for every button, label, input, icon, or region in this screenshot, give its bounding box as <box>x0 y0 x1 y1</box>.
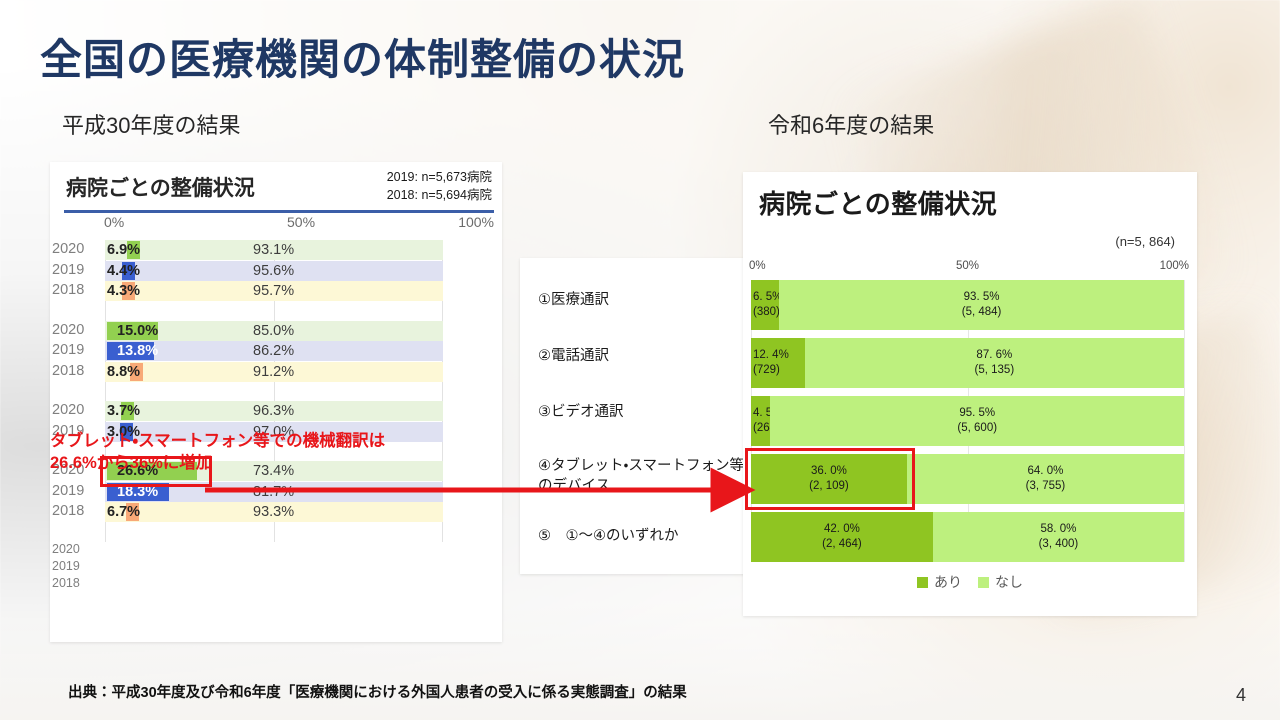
bar-row: 12. 4%(729)87. 6%(5, 135) <box>751 338 1185 388</box>
bar-segment-nashi: 87. 6%(5, 135) <box>805 338 1184 388</box>
left-axis-tick-100: 100% <box>458 214 494 230</box>
row-value-yes: 6.9% <box>107 241 140 259</box>
row-value-no: 93.1% <box>253 241 294 259</box>
row-value-no: 85.0% <box>253 322 294 340</box>
bar-segment-ari: 36. 0%(2, 109) <box>751 454 907 504</box>
bar-count-nashi: (5, 484) <box>779 305 1184 320</box>
bar-row: 6. 5%(380)93. 5%(5, 484) <box>751 280 1185 330</box>
legend-swatch-icon <box>917 577 928 588</box>
subtitle-left: 平成30年度の結果 <box>62 108 240 140</box>
bar-segment-nashi: 95. 5%(5, 600) <box>770 396 1184 446</box>
bar-segment-nashi: 58. 0%(3, 400) <box>933 512 1184 562</box>
bar-row: 36. 0%(2, 109)64. 0%(3, 755) <box>751 454 1185 504</box>
row-value-no: 91.2% <box>253 363 294 381</box>
legend-label: なし <box>995 572 1023 592</box>
bar-segment-ari: 4. 5%(264) <box>751 396 770 446</box>
row-value-no: 95.7% <box>253 282 294 300</box>
subtitle-right: 令和6年度の結果 <box>768 108 934 140</box>
bar-pct-ari: 36. 0% <box>751 464 907 479</box>
slide-root: 全国の医療機関の体制整備の状況 平成30年度の結果 令和6年度の結果 病院ごとの… <box>0 0 1280 720</box>
row-value-yes: 3.7% <box>107 402 140 420</box>
bar-count-nashi: (3, 755) <box>907 479 1184 494</box>
category-label-3: ③ビデオ通訳 <box>538 402 744 422</box>
row-value-yes: 4.4% <box>107 262 140 280</box>
left-chart-card: 病院ごとの整備状況 2019: n=5,673病院 2018: n=5,694病… <box>50 162 502 642</box>
row-value-no: 93.3% <box>253 503 294 521</box>
left-chart-axis: 0% 50% 100% <box>50 214 502 238</box>
row-value-yes: 13.8% <box>117 342 158 360</box>
table-row: 20184.3%95.7% <box>105 281 443 301</box>
left-chart-title: 病院ごとの整備状況 <box>66 172 255 202</box>
category-label-1: ①医療通訳 <box>538 290 744 310</box>
row-value-yes: 15.0% <box>117 322 158 340</box>
right-chart-card: 病院ごとの整備状況 (n=5, 864) 0% 50% 100% 6. 5%(3… <box>743 172 1197 616</box>
category-label-4: ④タブレット・スマートフォン等のデバイス <box>538 456 744 496</box>
bar-pct-nashi: 87. 6% <box>805 348 1184 363</box>
row-year-label: 2019 <box>52 262 98 278</box>
bar-count-nashi: (3, 400) <box>933 537 1184 552</box>
row-value-yes: 6.7% <box>107 503 140 521</box>
table-row: 20186.7%93.3% <box>105 502 443 522</box>
left-chart-n-2019: 2019: n=5,673病院 <box>387 168 492 186</box>
table-row: 201913.8%86.2% <box>105 341 443 361</box>
legend-swatch-icon <box>978 577 989 588</box>
row-value-yes: 4.3% <box>107 282 140 300</box>
legend-item-nashi: なし <box>978 572 1023 592</box>
bar-count-ari: (2, 109) <box>751 479 907 494</box>
bar-count-nashi: (5, 135) <box>805 363 1184 378</box>
row-year-label: 2020 <box>52 322 98 338</box>
right-axis-tick-0: 0% <box>749 260 766 272</box>
bar-pct-nashi: 58. 0% <box>933 522 1184 537</box>
left-chart-callout: タブレット・スマートフォン等での機械翻訳は26.6%から36%に増加 <box>50 430 390 475</box>
bar-segment-ari: 12. 4%(729) <box>751 338 805 388</box>
table-row: 20188.8%91.2% <box>105 362 443 382</box>
left-axis-tick-0: 0% <box>104 214 124 230</box>
row-value-yes: 8.8% <box>107 363 140 381</box>
left-chart-n-2018: 2018: n=5,694病院 <box>387 186 492 204</box>
bar-count-nashi: (5, 600) <box>770 421 1184 436</box>
right-chart-title: 病院ごとの整備状況 <box>759 184 997 221</box>
row-year-label: 2018 <box>52 576 98 590</box>
row-value-no: 95.6% <box>253 262 294 280</box>
row-year-label: 2020 <box>52 241 98 257</box>
right-axis-tick-100: 100% <box>1160 260 1189 272</box>
right-axis-tick-50: 50% <box>956 260 979 272</box>
bar-segment-ari: 6. 5%(380) <box>751 280 779 330</box>
right-chart-legend: ありなし <box>743 572 1197 592</box>
row-value-no: 96.3% <box>253 402 294 420</box>
bar-segment-nashi: 93. 5%(5, 484) <box>779 280 1184 330</box>
left-chart-n-note: 2019: n=5,673病院 2018: n=5,694病院 <box>387 168 492 204</box>
bar-row: 42. 0%(2, 464)58. 0%(3, 400) <box>751 512 1185 562</box>
left-chart-rule <box>64 210 494 213</box>
right-chart-axis: 0% 50% 100% <box>743 260 1197 278</box>
category-label-2: ②電話通訳 <box>538 346 744 366</box>
bar-pct-nashi: 95. 5% <box>770 406 1184 421</box>
source-note: 出典：平成30年度及び令和6年度「医療機関における外国人患者の受入に係る実態調査… <box>68 681 687 702</box>
table-row: 20206.9%93.1% <box>105 240 443 260</box>
left-chart-plot: 20206.9%93.1%20194.4%95.6%20184.3%95.7%2… <box>105 240 443 560</box>
bar-pct-nashi: 93. 5% <box>779 290 1184 305</box>
row-value-no: 81.7% <box>253 483 294 501</box>
legend-label: あり <box>934 572 962 592</box>
bar-pct-ari: 42. 0% <box>751 522 933 537</box>
bar-segment-nashi: 64. 0%(3, 755) <box>907 454 1184 504</box>
left-axis-tick-50: 50% <box>287 214 315 230</box>
category-label-5: ⑤ ①～④のいずれか <box>538 526 744 546</box>
page-title: 全国の医療機関の体制整備の状況 <box>40 26 685 87</box>
bar-count-ari: (2, 464) <box>751 537 933 552</box>
row-value-yes: 18.3% <box>117 483 158 501</box>
category-label-panel: ①医療通訳②電話通訳③ビデオ通訳④タブレット・スマートフォン等のデバイス⑤ ①～… <box>520 258 752 574</box>
row-year-label: 2018 <box>52 363 98 379</box>
table-row: 202015.0%85.0% <box>105 321 443 341</box>
row-year-label: 2020 <box>52 402 98 418</box>
bar-segment-ari: 42. 0%(2, 464) <box>751 512 933 562</box>
bar-row: 4. 5%(264)95. 5%(5, 600) <box>751 396 1185 446</box>
row-year-label: 2019 <box>52 483 98 499</box>
table-row: 20194.4%95.6% <box>105 261 443 281</box>
row-year-label: 2018 <box>52 282 98 298</box>
row-year-label: 2018 <box>52 503 98 519</box>
row-year-label: 2019 <box>52 559 98 573</box>
bar-pct-nashi: 64. 0% <box>907 464 1184 479</box>
right-chart-n-note: (n=5, 864) <box>1115 234 1175 249</box>
legend-item-ari: あり <box>917 572 962 592</box>
table-row: 201918.3%81.7% <box>105 482 443 502</box>
table-row: 20203.7%96.3% <box>105 401 443 421</box>
right-chart-plot: 6. 5%(380)93. 5%(5, 484)12. 4%(729)87. 6… <box>751 280 1185 562</box>
page-number: 4 <box>1236 685 1246 706</box>
row-year-label: 2019 <box>52 342 98 358</box>
row-year-label: 2020 <box>52 542 98 556</box>
row-value-no: 86.2% <box>253 342 294 360</box>
